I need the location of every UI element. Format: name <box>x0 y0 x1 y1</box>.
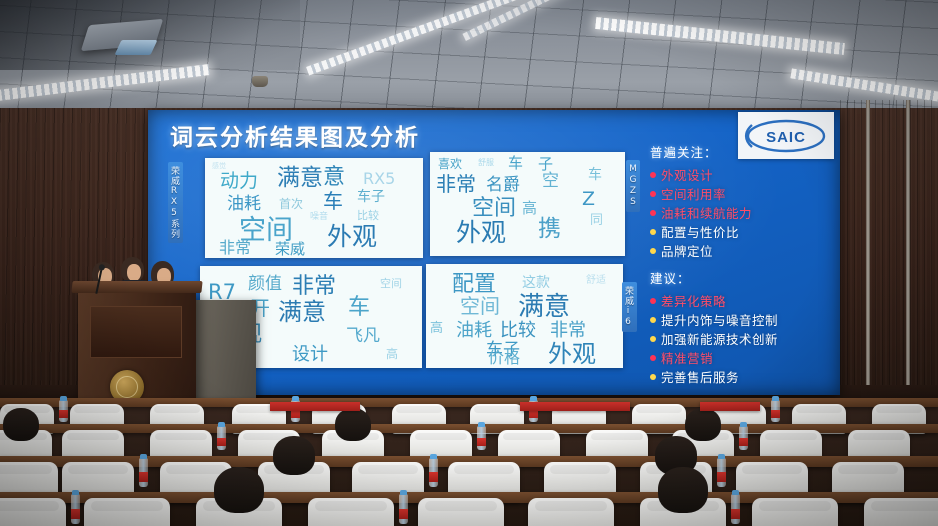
wordcloud-term: 油耗 <box>227 196 261 213</box>
wordcloud-term: 名爵 <box>486 177 520 194</box>
bottle-cap <box>400 490 407 495</box>
water-bottle <box>59 400 68 422</box>
water-bottle <box>429 458 438 487</box>
bottle-cap <box>292 396 299 401</box>
wordcloud-roewe-rx5: 动力满意意RX5油耗首次车车子空间外观非常荣威噪音比较感觉 <box>205 158 423 258</box>
wordcloud-term: 车 <box>588 168 602 182</box>
concern-item: 油耗和续航能力 <box>650 203 752 222</box>
wordcloud-term: 满意 <box>277 167 323 190</box>
bullet-dot-icon <box>650 248 656 254</box>
wordcloud-term: Z <box>582 190 595 209</box>
wordcloud-term: 车 <box>508 156 523 171</box>
wordcloud-term: 外观 <box>327 224 377 249</box>
wordcloud-term: 设计 <box>292 346 328 364</box>
suggestion-label: 完善售后服务 <box>661 367 739 386</box>
bottle-cap <box>732 490 739 495</box>
suggestion-label: 差异化策略 <box>661 291 726 310</box>
audience-attendee-head <box>335 408 371 441</box>
bullet-dot-icon <box>650 336 656 342</box>
concern-label: 配置与性价比 <box>661 222 739 241</box>
bullet-dot-icon <box>650 210 656 216</box>
bullet-dot-icon <box>650 191 656 197</box>
conference-room-photo: 词云分析结果图及分析 SAIC 动力满意意RX5油耗首次车车子空间外观非常荣威噪… <box>0 0 938 526</box>
wordcloud-term: 非常 <box>436 174 476 194</box>
bottle-label <box>731 509 740 519</box>
wordcloud-term: 高 <box>386 348 398 360</box>
suggestions-heading: 建议： <box>650 268 778 287</box>
bottle-label <box>477 438 486 446</box>
wall-metal-strip <box>906 100 910 410</box>
audience-chair <box>308 498 394 526</box>
suggestions-list: 差异化策略提升内饰与噪音控制加强新能源技术创新精准营销完善售后服务 <box>650 291 778 386</box>
svg-text:SAIC: SAIC <box>766 129 806 146</box>
wordcloud-term: 空 <box>542 173 559 190</box>
suggestion-item: 加强新能源技术创新 <box>650 329 778 348</box>
wordcloud-term: 车 <box>323 191 343 211</box>
slide-title: 词云分析结果图及分析 <box>170 118 420 152</box>
water-bottle <box>771 400 780 422</box>
panel-tag-i6: 荣威i6 <box>622 282 637 332</box>
bottle-label <box>429 472 438 482</box>
bottle-label <box>59 410 68 417</box>
bottle-cap <box>478 422 485 427</box>
wordcloud-term: 非常 <box>550 322 586 340</box>
wordcloud-term: 动力 <box>220 172 258 191</box>
bottle-cap <box>530 396 537 401</box>
bottle-label <box>217 438 226 446</box>
suggestion-label: 精准营销 <box>661 348 713 367</box>
concern-label: 品牌定位 <box>661 241 713 260</box>
bottle-label <box>771 410 780 417</box>
concern-item: 品牌定位 <box>650 241 752 260</box>
water-bottle <box>731 494 740 524</box>
audience-chair <box>752 498 838 526</box>
wordcloud-term: 非常 <box>219 240 251 256</box>
wordcloud-roewe-i6: 配置这款空间满意油耗比较非常车子价格外观高舒适 <box>426 264 623 368</box>
bottle-label <box>717 472 726 482</box>
panel-tag-mgzs: MGZS <box>626 160 640 212</box>
water-bottle <box>217 426 226 450</box>
bottle-cap <box>72 490 79 495</box>
audience-attendee-head <box>214 467 264 513</box>
water-bottle <box>399 494 408 524</box>
water-bottle <box>139 458 148 487</box>
wordcloud-term: 比较 <box>357 210 379 221</box>
ceiling-speaker <box>252 76 268 87</box>
red-table-banner <box>520 402 630 411</box>
bullet-dot-icon <box>650 298 656 304</box>
wordcloud-term: 空间 <box>380 278 402 289</box>
wordcloud-term: 子 <box>538 157 553 172</box>
bullet-dot-icon <box>650 229 656 235</box>
audience-attendee-head <box>658 467 708 513</box>
bullet-dot-icon <box>650 172 656 178</box>
audience-chair <box>84 498 170 526</box>
concerns-heading: 普遍关注： <box>650 142 752 161</box>
concerns-list: 外观设计空间利用率油耗和续航能力配置与性价比品牌定位 <box>650 165 752 260</box>
audience-chair <box>418 498 504 526</box>
bullet-dot-icon <box>650 317 656 323</box>
wordcloud-term: 颜值 <box>248 276 282 293</box>
wordcloud-term: 配置 <box>452 274 496 296</box>
wordcloud-term: 车 <box>348 297 370 319</box>
wordcloud-term: 高 <box>522 201 537 216</box>
water-bottle <box>717 458 726 487</box>
wordcloud-term: 舒适 <box>586 276 606 286</box>
wordcloud-term: 首次 <box>279 198 303 210</box>
bottle-cap <box>60 396 67 401</box>
wordcloud-term: 感觉 <box>212 163 226 170</box>
podium-front-panel <box>90 306 182 358</box>
bottle-cap <box>772 396 779 401</box>
red-table-banner <box>700 402 760 411</box>
wordcloud-term: 满意 <box>518 294 570 320</box>
bottle-cap <box>740 422 747 427</box>
wordcloud-term: 价格 <box>488 350 520 366</box>
wordcloud-term: 比较 <box>500 322 536 340</box>
bottle-label <box>291 410 300 417</box>
bottle-label <box>399 509 408 519</box>
suggestion-item: 差异化策略 <box>650 291 778 310</box>
red-table-banner <box>270 402 360 411</box>
concern-label: 油耗和续航能力 <box>661 203 752 222</box>
bullet-dot-icon <box>650 374 656 380</box>
wordcloud-term: 满意 <box>278 300 326 324</box>
wordcloud-term: 高 <box>430 322 443 335</box>
concern-item: 配置与性价比 <box>650 222 752 241</box>
concern-label: 外观设计 <box>661 165 713 184</box>
bottle-label <box>739 438 748 446</box>
audience-chair <box>864 498 938 526</box>
wordcloud-mgzs: 喜欢舒服车子非常名爵空车空间高Z外观携同 <box>430 152 625 256</box>
podium-top <box>71 281 202 293</box>
audience-attendee-head <box>273 436 315 474</box>
wordcloud-term: 飞凡 <box>346 328 380 345</box>
wordcloud-term: 油耗 <box>456 322 492 340</box>
suggestion-item: 完善售后服务 <box>650 367 778 386</box>
bottle-cap <box>140 454 147 459</box>
wordcloud-term: 车子 <box>357 190 385 204</box>
suggestion-item: 精准营销 <box>650 348 778 367</box>
wordcloud-term: 空间 <box>460 296 500 316</box>
concern-label: 空间利用率 <box>661 184 726 203</box>
concern-item: 外观设计 <box>650 165 752 184</box>
suggestion-item: 提升内饰与噪音控制 <box>650 310 778 329</box>
bullet-dot-icon <box>650 355 656 361</box>
water-bottle <box>477 426 486 450</box>
wordcloud-term: 意 <box>323 167 345 189</box>
wordcloud-term: RX5 <box>363 171 395 187</box>
wordcloud-term: 噪音 <box>310 213 328 222</box>
wordcloud-term: 非常 <box>292 276 336 298</box>
side-podium <box>190 300 256 408</box>
panel-tag-rx5: 荣威RX5系列 <box>168 162 183 243</box>
right-wall-panel <box>840 100 938 410</box>
presenter-face <box>127 264 141 281</box>
water-bottle <box>71 494 80 524</box>
bottle-cap <box>218 422 225 427</box>
suggestions-block: 建议： 差异化策略提升内饰与噪音控制加强新能源技术创新精准营销完善售后服务 <box>650 268 778 386</box>
audience-chair <box>528 498 614 526</box>
suggestion-label: 加强新能源技术创新 <box>661 329 778 348</box>
wordcloud-term: 外观 <box>548 342 596 366</box>
wordcloud-term: 舒服 <box>478 159 494 167</box>
wordcloud-term: 荣威 <box>275 242 305 257</box>
wordcloud-term: 这款 <box>522 276 550 290</box>
projector-lens <box>115 40 158 55</box>
audience-attendee-head <box>3 408 39 441</box>
bottle-label <box>139 472 148 482</box>
concern-item: 空间利用率 <box>650 184 752 203</box>
audience-chair <box>0 498 66 526</box>
saic-logo: SAIC <box>738 112 834 159</box>
wordcloud-term: 携 <box>538 218 561 241</box>
podium <box>78 288 196 408</box>
wordcloud-term: 同 <box>590 214 603 227</box>
wordcloud-term: 喜欢 <box>438 158 462 170</box>
wordcloud-term: 外观 <box>456 220 506 245</box>
concerns-block: 普遍关注： 外观设计空间利用率油耗和续航能力配置与性价比品牌定位 <box>650 142 752 260</box>
audience-attendee-head <box>685 408 721 441</box>
wordcloud-term: 空间 <box>472 198 516 220</box>
bottle-cap <box>430 454 437 459</box>
ceiling <box>0 0 938 118</box>
bottle-label <box>529 410 538 417</box>
water-bottle <box>739 426 748 450</box>
wall-metal-strip <box>866 100 870 410</box>
bottle-cap <box>718 454 725 459</box>
bottle-label <box>71 509 80 519</box>
suggestion-label: 提升内饰与噪音控制 <box>661 310 778 329</box>
